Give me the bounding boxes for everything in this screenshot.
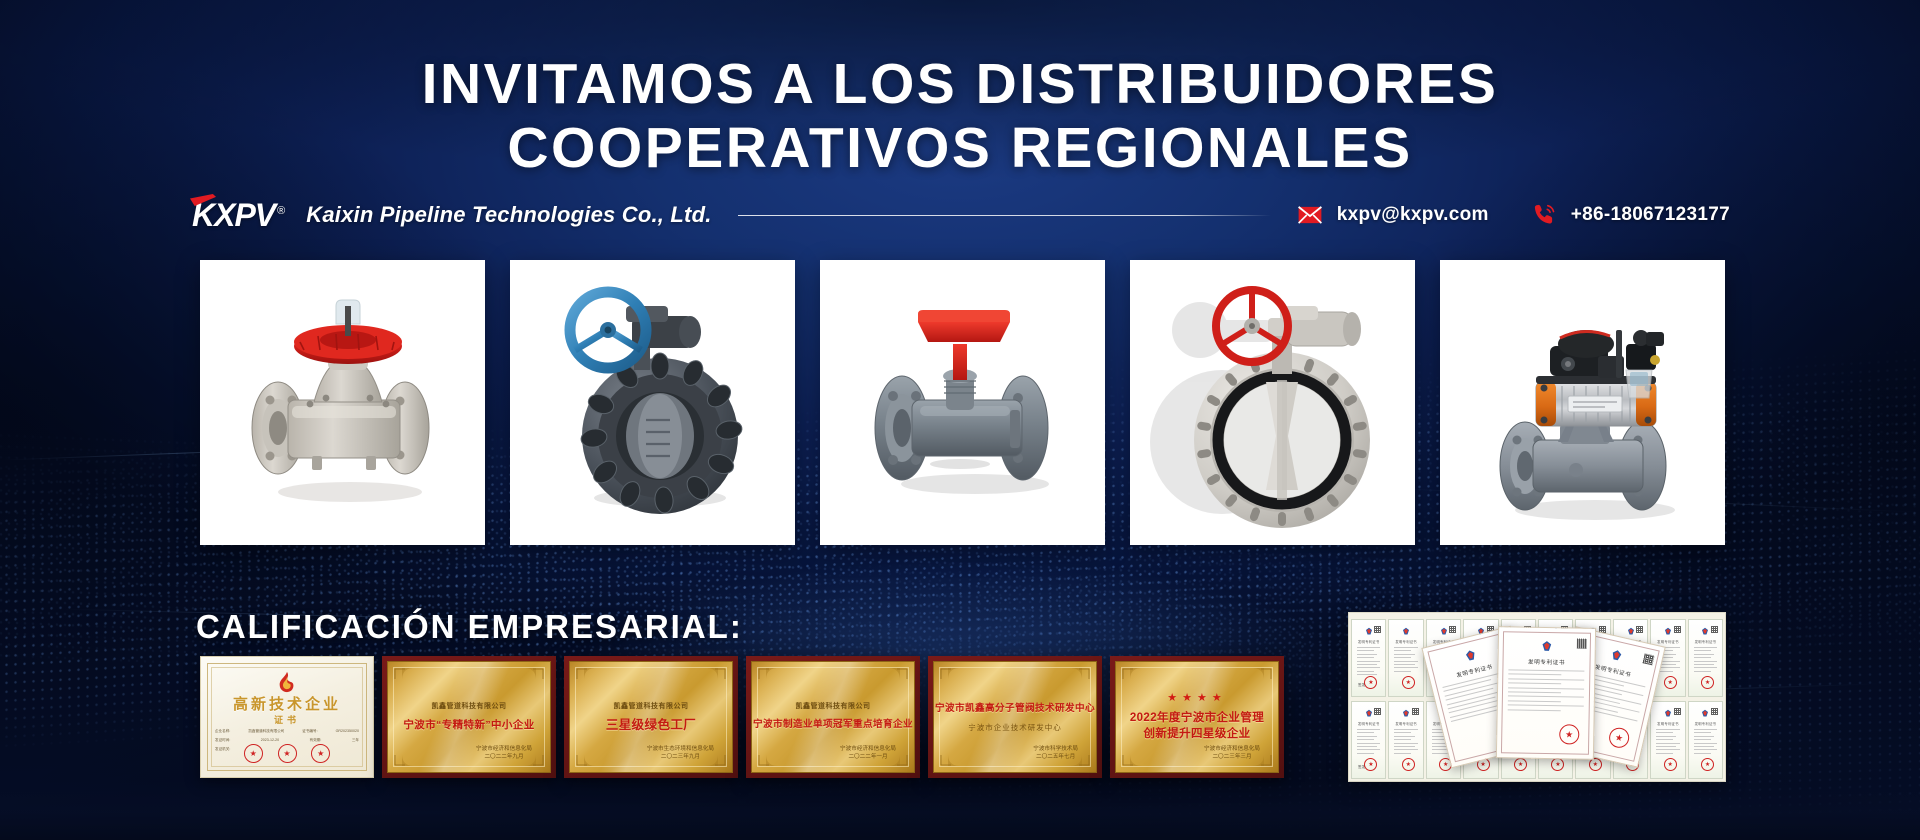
plaque-gold-face: ★★★★ 2022年度宁波市企业管理 创新提升四星级企业 宁波市经济和信息化局 …: [1115, 661, 1279, 773]
patent-thumb-title: 发明专利证书: [1689, 639, 1722, 644]
qualification-item-plaque[interactable]: 宁波市凯鑫高分子管阀技术研发中心 宁波市企业技术研发中心 宁波市科学技术局 二〇…: [928, 656, 1102, 778]
certificate-seals: [201, 744, 373, 763]
envelope-icon: [1297, 202, 1323, 228]
patent-emblem-icon: [1701, 627, 1710, 636]
plaque-date: 二〇二三年九月: [647, 753, 714, 761]
certificate-field-row: 企业名称: 凯鑫管道科技有限公司 证书编号: GR202350020: [215, 729, 359, 734]
patent-emblem-icon: [1701, 709, 1710, 718]
plaque-issuer: 宁波市经济和信息化局: [476, 745, 532, 753]
official-seal-icon: [1402, 758, 1415, 771]
plaque-company-name: 凯鑫管道科技有限公司: [614, 701, 689, 711]
plaque-gold-face: 宁波市凯鑫高分子管阀技术研发中心 宁波市企业技术研发中心 宁波市科学技术局 二〇…: [933, 661, 1097, 773]
plaque-gold-face: 凯鑫管道科技有限公司 三星级绿色工厂 宁波市生态环境和信息化局 二〇二三年九月: [569, 661, 733, 773]
qr-code-icon: [1711, 708, 1718, 715]
patent-emblem-icon: [1402, 627, 1411, 636]
patent-certificate-thumb: 发明专利证书: [1388, 701, 1423, 779]
patent-thumb-title: 发明专利证书: [1689, 721, 1722, 726]
patent-emblem-icon: [1663, 627, 1672, 636]
qr-code-icon: [1711, 626, 1718, 633]
plaque-issuer: 宁波市科学技术局: [1033, 745, 1078, 753]
email-contact[interactable]: kxpv@kxpv.com: [1297, 202, 1489, 228]
field-label: 企业名称:: [215, 729, 230, 734]
qualification-title: CALIFICACIÓN EMPRESARIAL:: [196, 608, 743, 646]
plaque-gold-face: 凯鑫管道科技有限公司 宁波市制造业单项冠军重点培育企业 宁波市经济和信息化局 二…: [751, 661, 915, 773]
contact-group: kxpv@kxpv.com +86-18067123177: [1297, 202, 1730, 228]
field-value: 凯鑫管道科技有限公司: [248, 729, 284, 734]
patent-certificate-thumb: 发明专利证书: [1688, 619, 1723, 697]
field-value: GR202350020: [336, 729, 359, 734]
product-image-pneumatic-ball-valve: [1440, 260, 1725, 545]
patent-thumb-title: 发明专利证书: [1352, 639, 1385, 644]
floor-gradient: [0, 780, 1920, 840]
patent-certificates-collage[interactable]: 发明专利证书 签发 发明专利证书 发明专利证书 发明专: [1348, 612, 1726, 782]
registered-trademark-icon: ®: [277, 205, 284, 217]
patent-thumb-title: 发明专利证书: [1651, 721, 1684, 726]
qr-code-icon: [1674, 626, 1681, 633]
email-text: kxpv@kxpv.com: [1337, 204, 1489, 226]
plaque-subtitle: 宁波市企业技术研发中心: [968, 722, 1062, 733]
product-card[interactable]: [1440, 260, 1725, 545]
patent-emblem-icon: [1402, 709, 1411, 718]
patent-thumb-title: 发明专利证书: [1352, 721, 1385, 726]
patent-thumb-lines: [1357, 647, 1380, 678]
patent-certificate-featured: 发明专利证书: [1496, 626, 1596, 760]
official-seal-icon: [1551, 758, 1564, 771]
plaque-date: 二〇二五年七月: [1033, 753, 1078, 761]
brand-contact-bar: KXPV® Kaixin Pipeline Technologies Co., …: [192, 194, 1730, 236]
plaque-title: 三星级绿色工厂: [606, 717, 696, 733]
kxpv-logo-mark: KXPV®: [192, 199, 284, 231]
certificate-subtitle: 证书: [201, 713, 373, 726]
plaque-company-name: 凯鑫管道科技有限公司: [796, 701, 871, 711]
headline-line-2: COOPERATIVOS REGIONALES: [0, 116, 1920, 180]
field-label: 证书编号:: [302, 729, 317, 734]
product-card[interactable]: [1130, 260, 1415, 545]
patent-thumb-lines: [1394, 729, 1417, 756]
qualification-item-plaque[interactable]: ★★★★ 2022年度宁波市企业管理 创新提升四星级企业 宁波市经济和信息化局 …: [1110, 656, 1284, 778]
phone-text: +86-18067123177: [1571, 204, 1730, 226]
qualification-plaque-row: 高新技术企业 证书 企业名称: 凯鑫管道科技有限公司 证书编号: GR20235…: [200, 656, 1284, 778]
official-seal-icon: [1514, 758, 1527, 771]
official-seal-icon: [1559, 724, 1579, 744]
field-value: 三年: [352, 738, 359, 743]
patent-certificate-thumb: 发明专利证书 签发: [1351, 619, 1386, 697]
certificate-field-row: 发证时间: 2023-12-20 有效期: 三年: [215, 738, 359, 743]
certificate-title: 发明专利证书: [1498, 657, 1594, 667]
qualification-item-plaque[interactable]: 凯鑫管道科技有限公司 宁波市“专精特新”中小企业 宁波市经济和信息化局 二〇二二…: [382, 656, 556, 778]
qualification-item-plaque[interactable]: 凯鑫管道科技有限公司 三星级绿色工厂 宁波市生态环境和信息化局 二〇二三年九月: [564, 656, 738, 778]
qr-code-icon: [1374, 708, 1381, 715]
patent-emblem-icon: [1663, 709, 1672, 718]
page-title: INVITAMOS A LOS DISTRIBUIDORES COOPERATI…: [0, 52, 1920, 180]
product-image-ball-valve-red-handle: [820, 260, 1105, 545]
official-seal-icon: [1364, 676, 1377, 689]
qualification-item-plaque[interactable]: 凯鑫管道科技有限公司 宁波市制造业单项冠军重点培育企业 宁波市经济和信息化局 二…: [746, 656, 920, 778]
certificate-main-title: 高新技术企业: [201, 693, 373, 714]
qr-code-icon: [1449, 626, 1456, 633]
plaque-footer: 宁波市科学技术局 二〇二五年七月: [1033, 745, 1078, 761]
patent-thumb-lines: [1656, 729, 1679, 756]
patent-thumb-lines: [1694, 729, 1717, 756]
phone-contact[interactable]: +86-18067123177: [1531, 202, 1730, 228]
official-seal-icon: [278, 744, 297, 763]
promotional-banner: INVITAMOS A LOS DISTRIBUIDORES COOPERATI…: [0, 0, 1920, 840]
phone-icon: [1531, 202, 1557, 228]
plaque-company-name: 凯鑫管道科技有限公司: [432, 701, 507, 711]
product-image-butterfly-valve-blue: [510, 260, 795, 545]
product-card[interactable]: [200, 260, 485, 545]
patent-certificate-thumb: 发明专利证书 签发: [1351, 701, 1386, 779]
plaque-gold-face: 凯鑫管道科技有限公司 宁波市“专精特新”中小企业 宁波市经济和信息化局 二〇二二…: [387, 661, 551, 773]
patent-emblem-icon: [1364, 627, 1373, 636]
patent-emblem-icon: [1364, 709, 1373, 718]
certificate-lines: [1508, 669, 1585, 714]
patent-emblem-icon: [1626, 627, 1635, 636]
plaque-footer: 宁波市经济和信息化局 二〇二二年九月: [476, 745, 532, 761]
patent-emblem-icon: [1439, 627, 1448, 636]
product-card[interactable]: [820, 260, 1105, 545]
qr-code-icon: [1674, 708, 1681, 715]
field-value: 2023-12-20: [261, 738, 279, 743]
logo-letters: XPV: [214, 197, 275, 233]
field-label: 有效期:: [310, 738, 322, 743]
patent-certificate-thumb: 发明专利证书: [1688, 701, 1723, 779]
plaque-title: 宁波市凯鑫高分子管阀技术研发中心: [935, 701, 1095, 717]
qr-code-icon: [1577, 639, 1587, 649]
qr-code-icon: [1374, 626, 1381, 633]
patent-thumb-lines: [1694, 647, 1717, 674]
patent-thumb-title: 发明专利证书: [1389, 721, 1422, 726]
brand-logo: KXPV®: [192, 199, 284, 231]
product-image-diaphragm-valve: [200, 260, 485, 545]
plaque-date: 二〇二二年一月: [840, 753, 896, 761]
official-seal-icon: [244, 744, 263, 763]
patent-thumb-lines: [1357, 729, 1380, 756]
plaque-title-line2: 创新提升四星级企业: [1143, 726, 1250, 742]
plaque-date: 二〇二三年三月: [1204, 753, 1260, 761]
patent-thumb-title: 发明专利证书: [1389, 639, 1422, 644]
official-seal-icon: [1664, 676, 1677, 689]
plaque-issuer: 宁波市经济和信息化局: [1204, 745, 1260, 753]
plaque-issuer: 宁波市生态环境和信息化局: [647, 745, 714, 753]
official-seal-icon: [1364, 758, 1377, 771]
patent-thumb-title: 发明专利证书: [1651, 639, 1684, 644]
patent-thumb-lines: [1394, 647, 1417, 674]
plaque-title: 宁波市“专精特新”中小企业: [403, 717, 534, 733]
official-seal-icon: [1701, 758, 1714, 771]
official-seal-icon: [1664, 758, 1677, 771]
product-card[interactable]: [510, 260, 795, 545]
logo-swoosh-icon: [190, 194, 216, 206]
hightech-flame-icon: [276, 671, 298, 693]
field-label: 发证时间:: [215, 738, 230, 743]
qr-code-icon: [1412, 708, 1419, 715]
plaque-footer: 宁波市经济和信息化局 二〇二二年一月: [840, 745, 896, 761]
headline-line-1: INVITAMOS A LOS DISTRIBUIDORES: [0, 52, 1920, 116]
product-image-butterfly-valve-large: [1130, 260, 1415, 545]
plaque-title: 2022年度宁波市企业管理: [1130, 710, 1264, 726]
company-name: Kaixin Pipeline Technologies Co., Ltd.: [306, 202, 711, 228]
patent-emblem-icon: [1540, 640, 1553, 653]
plaque-footer: 宁波市经济和信息化局 二〇二三年三月: [1204, 745, 1260, 761]
official-seal-icon: [1701, 676, 1714, 689]
plaque-star-rating: ★★★★: [1167, 693, 1226, 704]
official-seal-icon: [311, 744, 330, 763]
plaque-issuer: 宁波市经济和信息化局: [840, 745, 896, 753]
official-seal-icon: [1589, 758, 1602, 771]
qr-code-icon: [1636, 626, 1643, 633]
qualification-item-certificate[interactable]: 高新技术企业 证书 企业名称: 凯鑫管道科技有限公司 证书编号: GR20235…: [200, 656, 374, 778]
plaque-title: 宁波市制造业单项冠军重点培育企业: [753, 717, 913, 733]
official-seal-icon: [1402, 676, 1415, 689]
plaque-footer: 宁波市生态环境和信息化局 二〇二三年九月: [647, 745, 714, 761]
patent-certificate-thumb: 发明专利证书: [1650, 701, 1685, 779]
patent-certificate-thumb: 发明专利证书: [1388, 619, 1423, 697]
plaque-date: 二〇二二年九月: [476, 753, 532, 761]
product-gallery: [200, 260, 1725, 545]
header-divider: [738, 215, 1271, 216]
